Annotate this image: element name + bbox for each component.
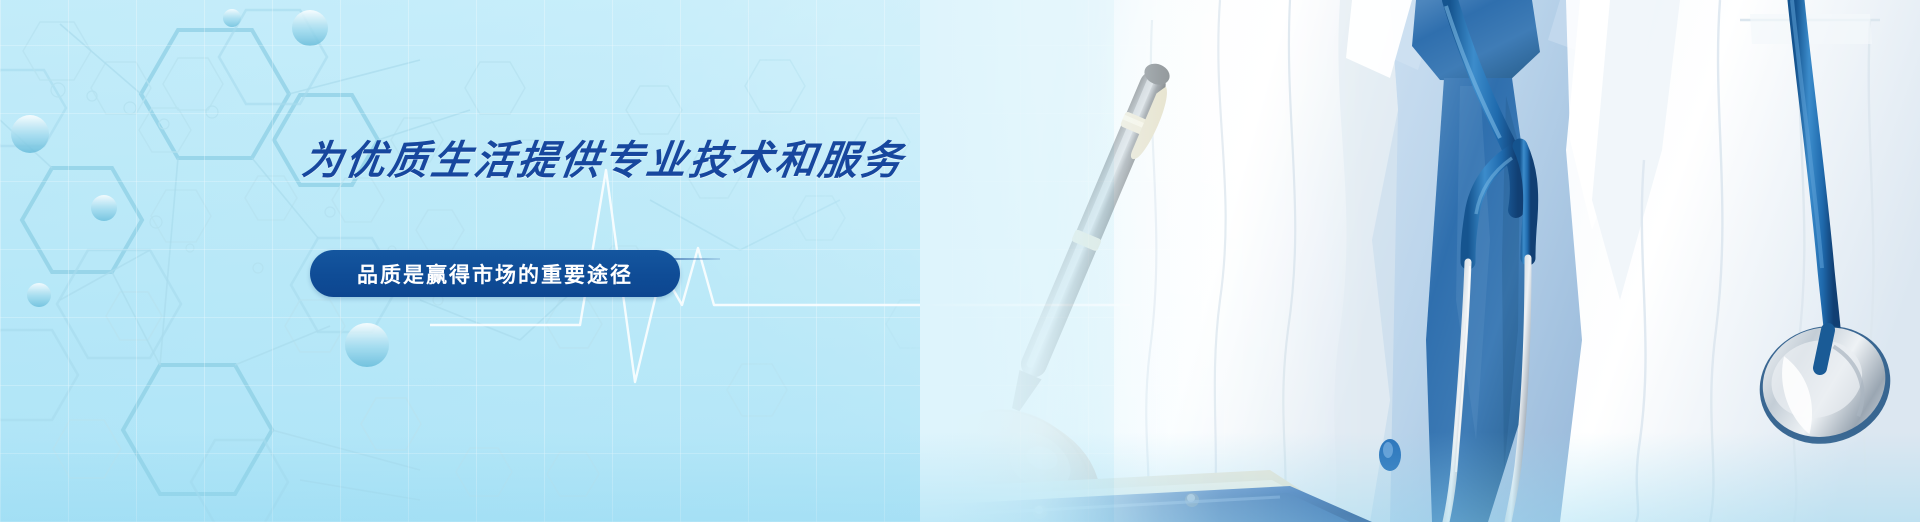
banner-headline: 为优质生活提供专业技术和服务 xyxy=(299,128,909,186)
banner-content: 为优质生活提供专业技术和服务 Quality wins Future 品质是赢得… xyxy=(0,0,900,522)
slogan-pill-button[interactable]: 品质是赢得市场的重要途径 xyxy=(310,250,680,297)
slogan-pill-label: 品质是赢得市场的重要途径 xyxy=(357,259,633,289)
medical-hero-banner: 为优质生活提供专业技术和服务 Quality wins Future 品质是赢得… xyxy=(0,0,1920,522)
